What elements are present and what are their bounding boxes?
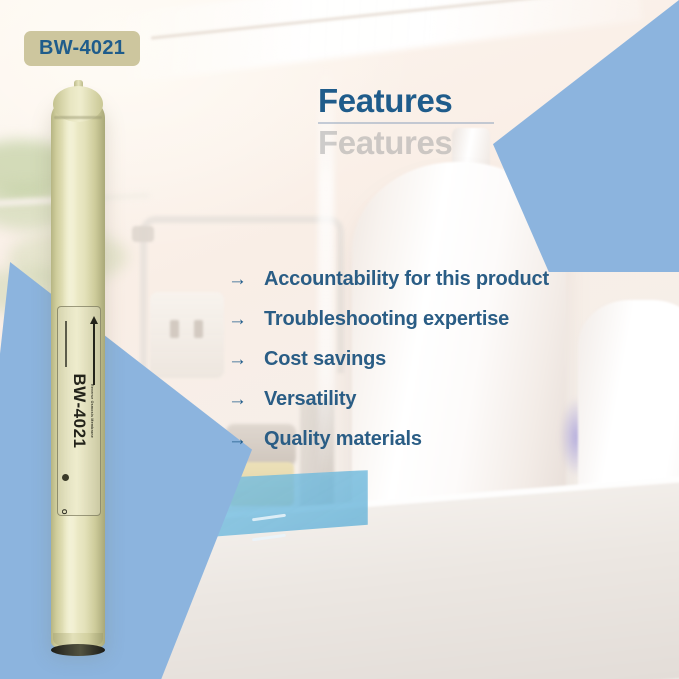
list-item: → Troubleshooting expertise: [228, 308, 648, 330]
product-label-serial: SERIAL NO. 000000000001: [99, 398, 101, 448]
list-item: → Cost savings: [228, 348, 648, 370]
features-heading-block: Features Features: [318, 84, 528, 159]
product-label-subtitle: Reverse Osmosis Membrane: [90, 384, 94, 438]
page-title-echo: Features: [318, 126, 528, 159]
feature-label: Troubleshooting expertise: [264, 308, 509, 330]
feature-label: Cost savings: [264, 348, 386, 370]
product-brand-name: Ozmoses: [60, 509, 67, 516]
ro-membrane-product: Reverse Osmosis Membrane BW-4021 SERIAL …: [51, 86, 105, 656]
membrane-o-ring: [51, 644, 105, 656]
flow-direction-arrow-icon: [93, 323, 95, 385]
page-title: Features: [318, 84, 528, 117]
arrow-right-icon: →: [228, 310, 250, 329]
feature-label: Quality materials: [264, 428, 422, 450]
arrow-right-icon: →: [228, 270, 250, 289]
product-feature-poster: Reverse Osmosis Membrane BW-4021 SERIAL …: [0, 0, 679, 679]
arrow-right-icon: →: [228, 430, 250, 449]
list-item: → Accountability for this product: [228, 268, 648, 290]
brand-mark-icon: [62, 474, 69, 481]
feature-label: Accountability for this product: [264, 268, 549, 290]
model-badge: BW-4021: [24, 31, 140, 66]
arrow-right-icon: →: [228, 350, 250, 369]
feature-label: Versatility: [264, 388, 356, 410]
label-tick-mark: [65, 321, 67, 367]
bracket-knob: [132, 226, 154, 242]
list-item: → Quality materials: [228, 428, 648, 450]
arrow-right-icon: →: [228, 390, 250, 409]
list-item: → Versatility: [228, 388, 648, 410]
features-list: → Accountability for this product → Trou…: [228, 268, 648, 468]
wall-outlet: [150, 292, 224, 378]
product-label: Reverse Osmosis Membrane BW-4021 SERIAL …: [57, 306, 101, 516]
product-label-title: BW-4021: [69, 374, 89, 449]
membrane-cap-seam: [54, 116, 102, 119]
